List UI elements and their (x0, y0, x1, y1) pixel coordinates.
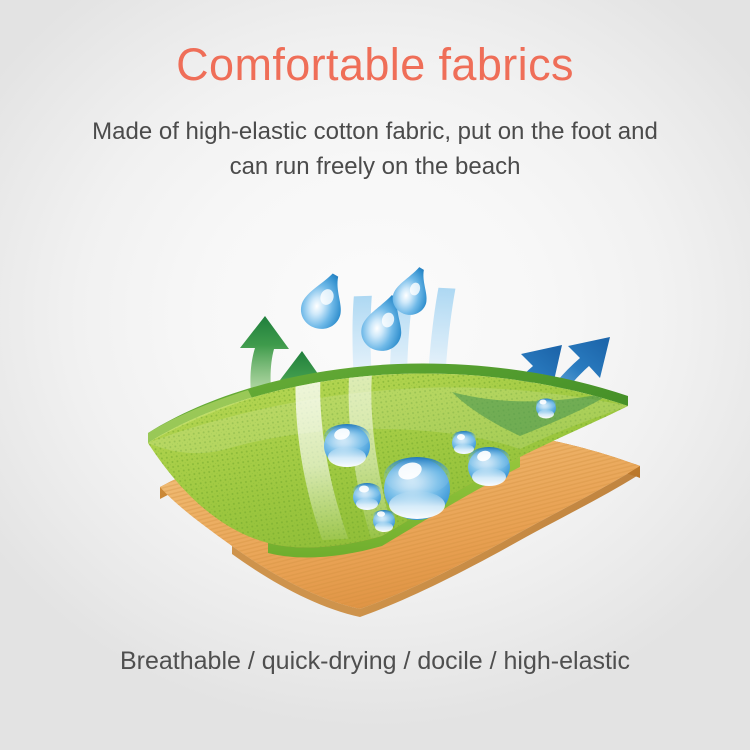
water-droplet (384, 457, 450, 520)
water-droplet (452, 431, 476, 454)
infographic-poster: Comfortable fabrics Made of high-elastic… (0, 0, 750, 750)
subtitle-line-1: Made of high-elastic cotton fabric, put … (0, 114, 750, 149)
page-title: Comfortable fabrics (0, 38, 750, 92)
water-droplet (536, 399, 556, 419)
subtitle: Made of high-elastic cotton fabric, put … (0, 114, 750, 184)
water-droplet (324, 424, 370, 467)
feature-caption: Breathable / quick-drying / docile / hig… (0, 645, 750, 677)
rising-water-droplet-1 (297, 268, 348, 332)
water-droplet (373, 510, 395, 532)
water-droplet (353, 483, 381, 510)
subtitle-line-2: can run freely on the beach (0, 149, 750, 184)
water-droplet (468, 447, 510, 486)
fabric-illustration (0, 0, 750, 750)
